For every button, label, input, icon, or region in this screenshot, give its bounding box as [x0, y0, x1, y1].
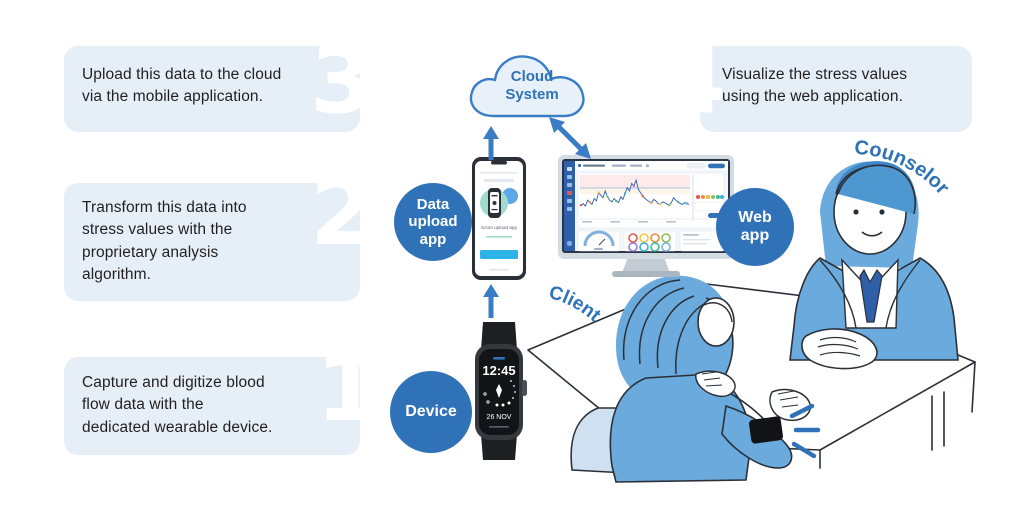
badge-device[interactable]: Device — [390, 371, 472, 453]
chart-point — [668, 204, 670, 206]
chart-point — [615, 200, 617, 202]
chart-point — [659, 203, 661, 205]
cloud-icon — [462, 46, 602, 128]
monitor-web-app — [556, 153, 736, 279]
client-wearable-band — [748, 416, 783, 444]
chart-point — [606, 196, 608, 198]
step-3-number: 3 — [310, 44, 374, 118]
chart-point — [624, 192, 626, 194]
chart-point — [597, 191, 599, 193]
wearable-device-watch: 12:45 26 NOV — [459, 318, 539, 464]
watch-date-display: 26 NOV — [487, 414, 512, 421]
watch-time-display: 12:45 — [482, 363, 515, 378]
step-3-text: Upload this data to the cloud via the mo… — [82, 64, 281, 109]
phone-app-caption: SASA upload app — [481, 225, 517, 230]
step-4-number: 4 — [662, 44, 726, 118]
badge-web-app[interactable]: Web app — [716, 188, 794, 266]
step-2-text: Transform this data into stress values w… — [82, 197, 247, 287]
chart-point — [686, 202, 688, 204]
chart-point — [633, 185, 635, 187]
chart-point — [650, 202, 652, 204]
step-1-number: 1 — [316, 352, 380, 426]
arrow-device-to-phone — [480, 284, 502, 318]
cloud-system-node: Cloud System — [462, 46, 602, 128]
badge-data-upload-app[interactable]: Data upload app — [394, 183, 472, 261]
step-4-text: Visualize the stress values using the we… — [722, 64, 907, 109]
chart-point — [677, 201, 679, 203]
infographic-canvas: Upload this data to the cloud via the mo… — [0, 0, 1024, 512]
chart-point — [642, 195, 644, 197]
counselor-figure — [790, 161, 958, 368]
step-card-4: Visualize the stress values using the we… — [700, 46, 972, 132]
chart-point — [580, 204, 582, 206]
phone-primary-button — [480, 250, 518, 259]
phone-watch-illustration — [488, 188, 501, 218]
arrow-phone-to-cloud — [480, 126, 502, 160]
step-1-text: Capture and digitize blood flow data wit… — [82, 372, 272, 439]
chart-point — [589, 201, 591, 203]
step-2-number: 2 — [310, 176, 374, 250]
